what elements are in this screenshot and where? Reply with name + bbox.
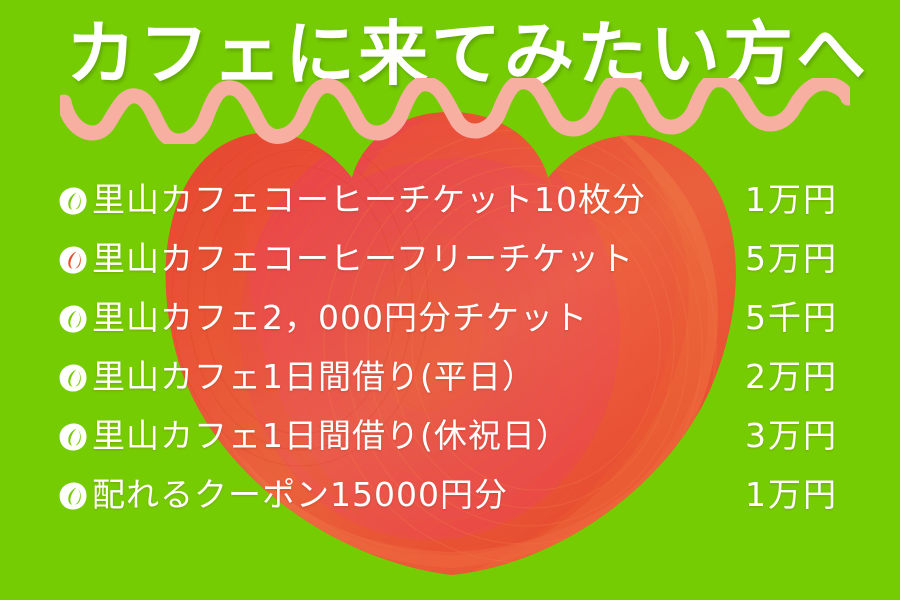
coffee-bean-icon [58,363,88,393]
price-row: 里山カフェ1日間借り(平日） 2万円 [0,347,900,406]
coffee-bean-icon [58,481,88,511]
price-row: 配れるクーポン15000円分 1万円 [0,465,900,524]
price-row-label: 里山カフェコーヒーフリーチケット [92,239,708,279]
price-row: 里山カフェ1日間借り(休祝日） 3万円 [0,406,900,465]
wavy-underline [60,78,850,144]
price-row-label: 里山カフェ1日間借り(平日） [92,357,708,397]
price-row: 里山カフェコーヒーフリーチケット 5万円 [0,229,900,288]
price-row-label: 里山カフェ1日間借り(休祝日） [92,416,708,456]
price-row-price: 3万円 [708,416,838,456]
price-row: 里山カフェコーヒーチケット10枚分 1万円 [0,170,900,229]
price-list: 里山カフェコーヒーチケット10枚分 1万円 里山カフェコーヒーフリーチケット 5… [0,170,900,524]
price-row-label: 里山カフェ2，000円分チケット [92,298,708,338]
coffee-bean-icon [58,304,88,334]
poster-canvas: カフェに来てみたい方へ 里山カフェコーヒーチケット10枚分 1万円 里山カフェコ… [0,0,900,600]
price-row-label: 里山カフェコーヒーチケット10枚分 [92,180,708,220]
price-row-price: 1万円 [708,475,838,515]
price-row: 里山カフェ2，000円分チケット 5千円 [0,288,900,347]
price-row-price: 2万円 [708,357,838,397]
price-row-price: 5千円 [708,298,838,338]
coffee-bean-icon [58,245,88,275]
coffee-bean-icon [58,186,88,216]
price-row-price: 5万円 [708,239,838,279]
price-row-price: 1万円 [708,180,838,220]
coffee-bean-icon [58,422,88,452]
price-row-label: 配れるクーポン15000円分 [92,475,708,515]
